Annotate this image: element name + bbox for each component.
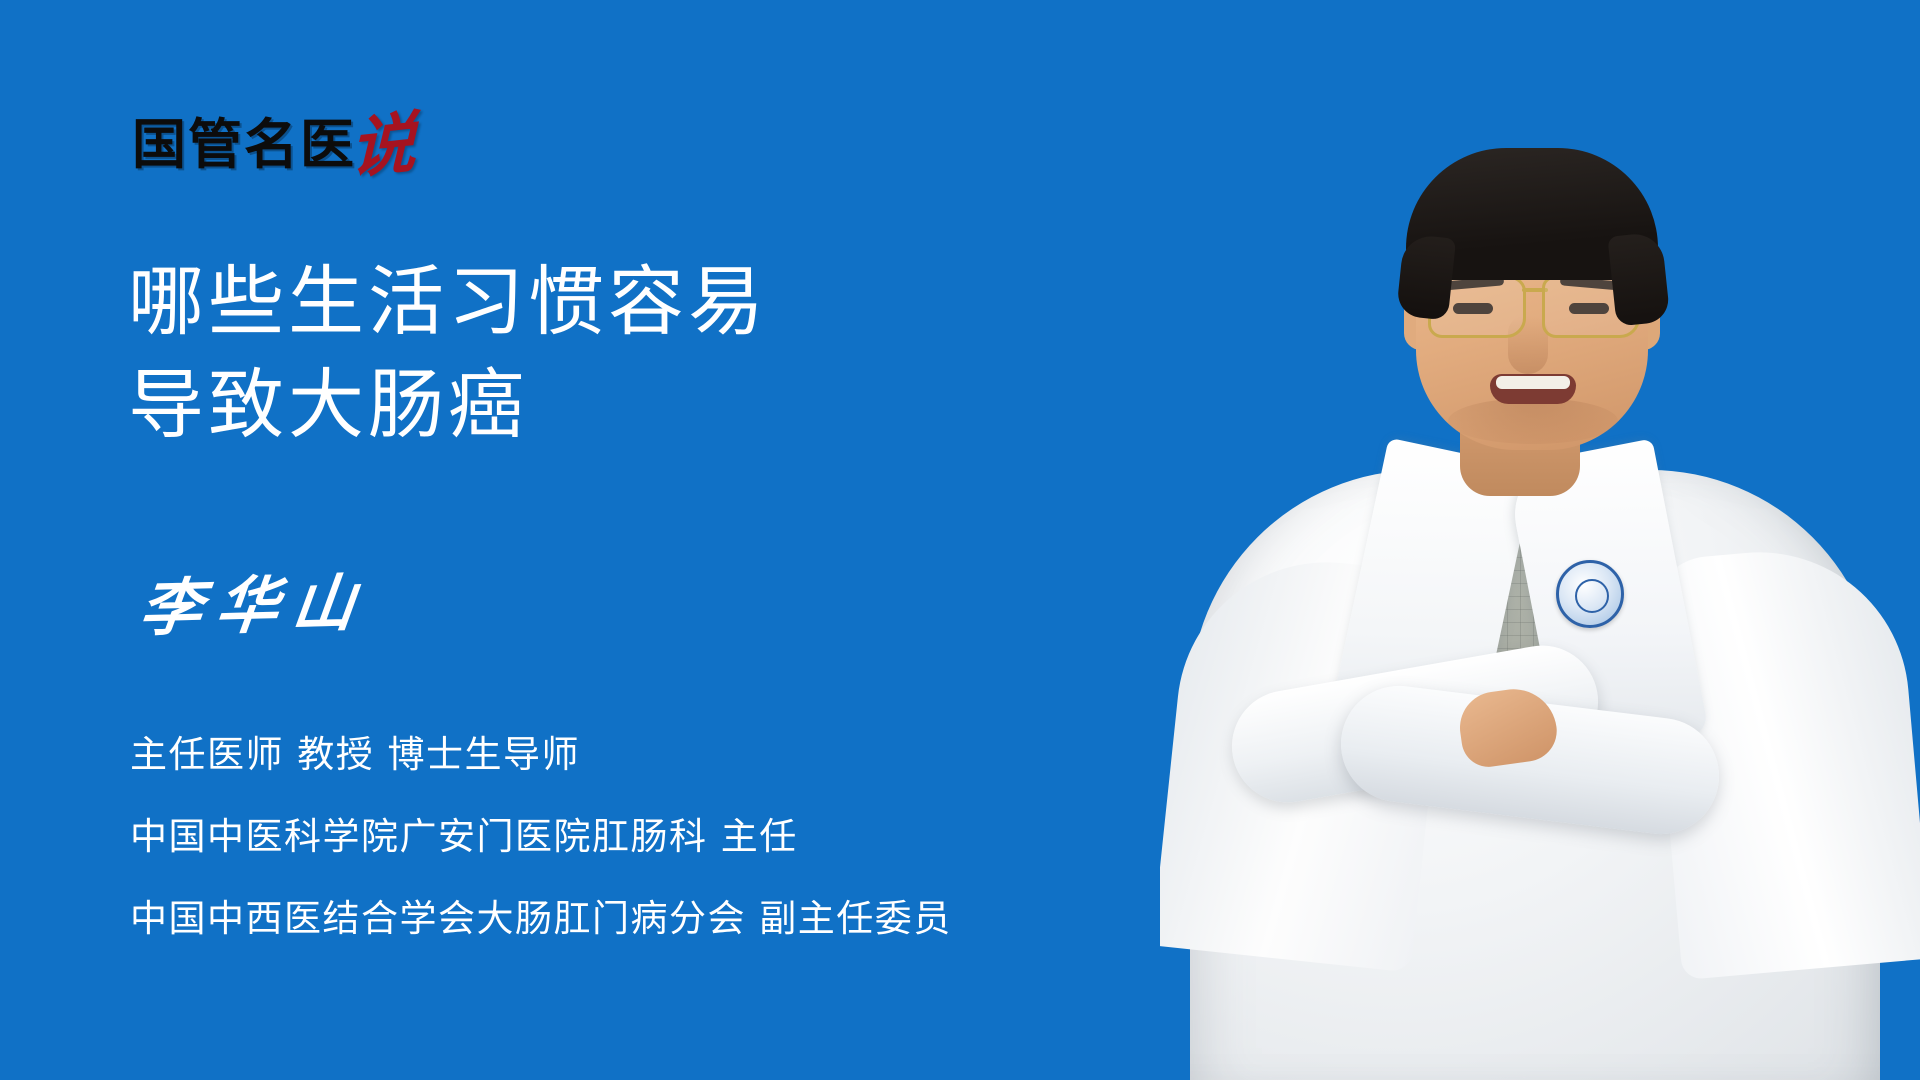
mouth bbox=[1490, 374, 1576, 404]
hospital-badge-icon bbox=[1556, 560, 1624, 628]
doctor-portrait bbox=[1160, 0, 1920, 1080]
brand-logo-main-text: 国管名医 bbox=[132, 118, 356, 172]
brand-logo: 国管名医 说 bbox=[132, 92, 416, 172]
credential-line-3: 中国中西医结合学会大肠肛门病分会 副主任委员 bbox=[130, 878, 1230, 960]
doctor-name: 李华山 bbox=[136, 572, 372, 640]
page-title: 哪些生活习惯容易 导致大肠癌 bbox=[128, 250, 1108, 457]
doctor-credentials: 主任医师 教授 博士生导师 中国中医科学院广安门医院肛肠科 主任 中国中西医结合… bbox=[130, 714, 1230, 960]
brand-logo-accent-text: 说 bbox=[350, 114, 416, 178]
chin-shadow bbox=[1448, 398, 1618, 444]
credential-line-2: 中国中医科学院广安门医院肛肠科 主任 bbox=[130, 796, 1230, 878]
headline-line-2: 导致大肠癌 bbox=[128, 353, 1108, 456]
hair bbox=[1406, 148, 1658, 280]
headline-line-1: 哪些生活习惯容易 bbox=[128, 250, 1108, 353]
video-cover-poster: 国管名医 说 哪些生活习惯容易 导致大肠癌 李华山 主任医师 教授 博士生导师 … bbox=[0, 0, 1920, 1080]
credential-line-1: 主任医师 教授 博士生导师 bbox=[130, 714, 1230, 796]
